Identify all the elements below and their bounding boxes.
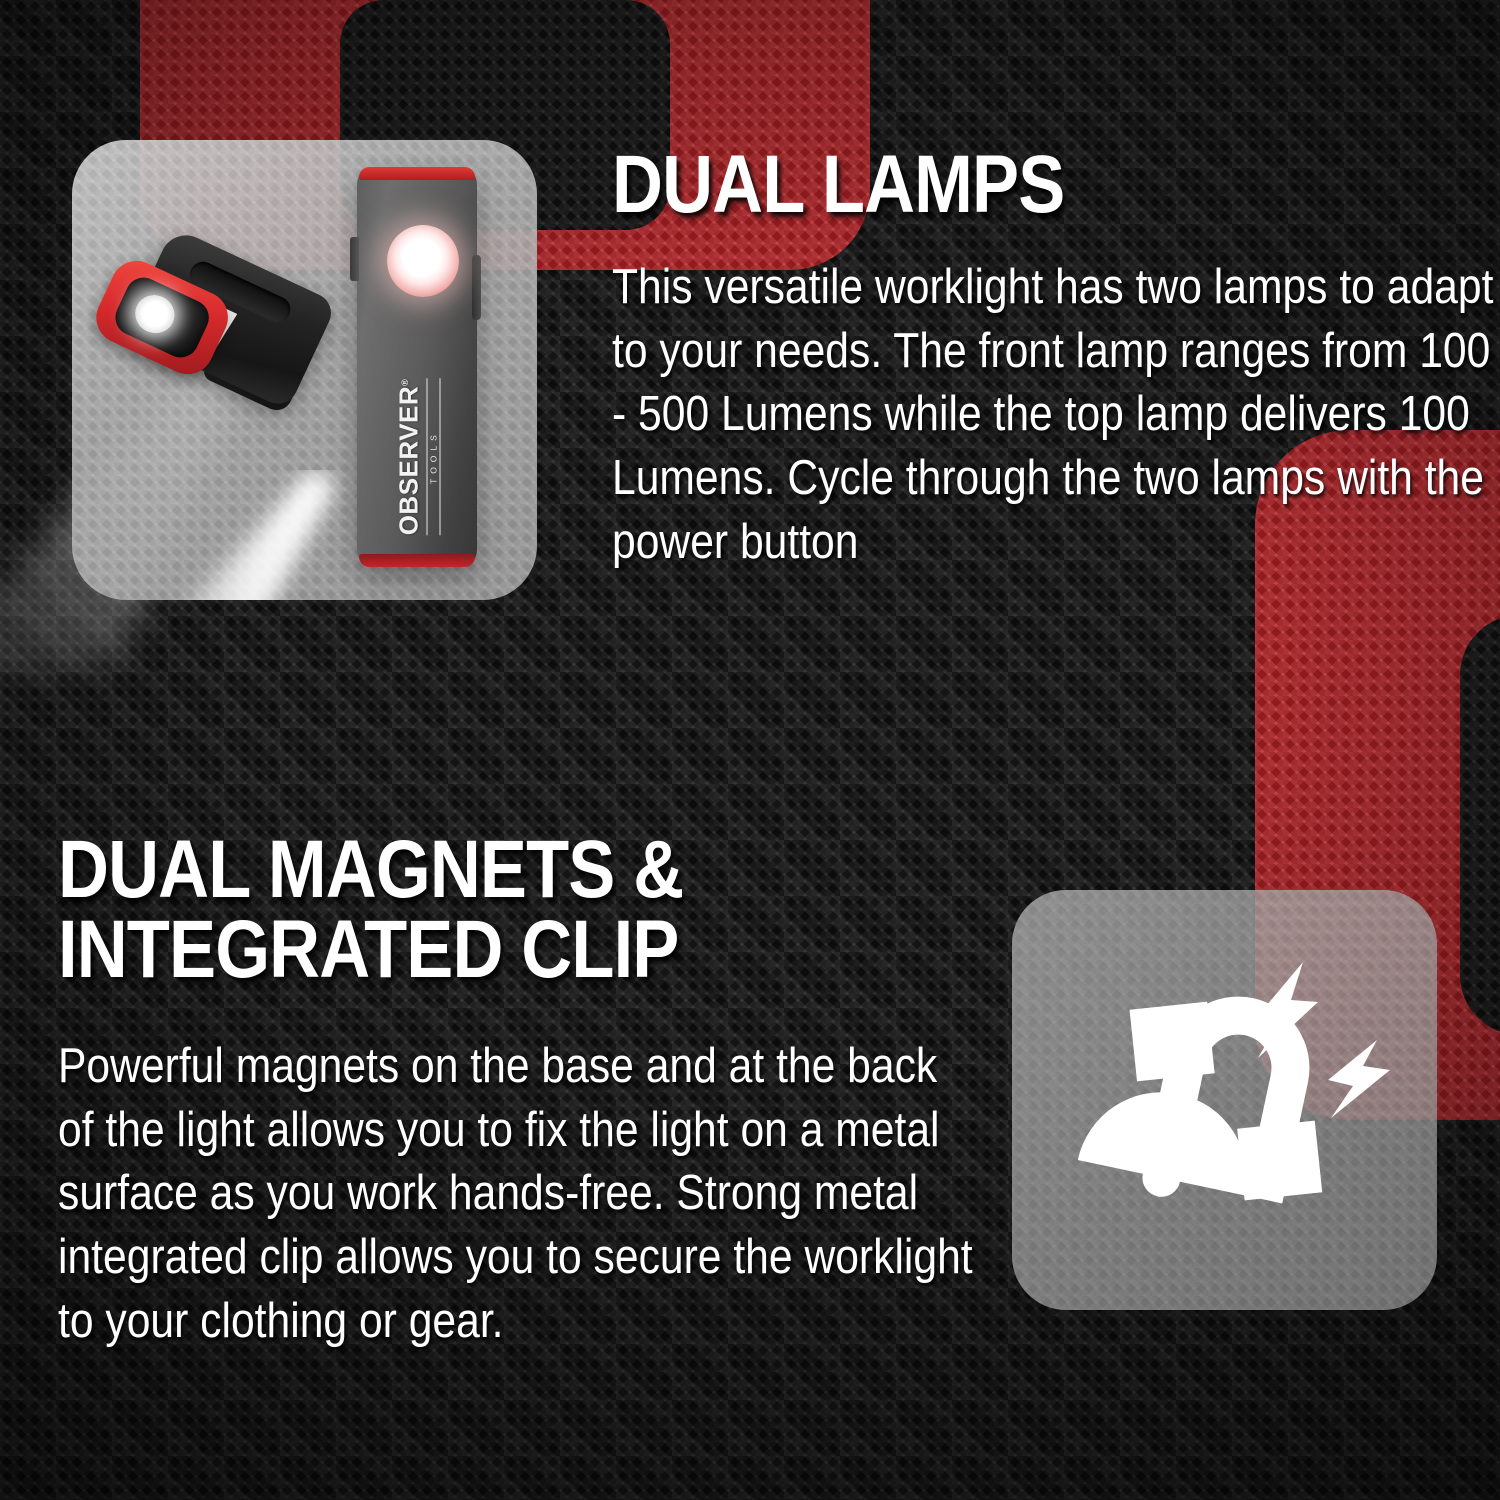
lightning-bolt-icon: [1328, 1040, 1390, 1118]
dual-lamps-heading: DUAL LAMPS: [612, 145, 1064, 225]
horseshoe-magnet-icon: [1073, 969, 1358, 1229]
magnet-icon-panel: [1012, 890, 1437, 1310]
red-end-cap-bottom: [359, 554, 475, 567]
dual-magnets-heading: DUAL MAGNETS &INTEGRATED CLIP: [58, 830, 683, 991]
integrated-clip: [350, 237, 359, 281]
dual-lamps-body: This versatile worklight has two lamps t…: [612, 256, 1499, 574]
brand-logo: OBSERVER® TOOLS: [361, 372, 473, 542]
worklight-vertical: OBSERVER® TOOLS: [357, 167, 477, 567]
magnet-graphic: [1060, 940, 1390, 1260]
brand-sub-text: TOOLS: [427, 379, 441, 536]
product-photo-panel: OBSERVER® TOOLS: [72, 140, 537, 600]
dual-magnets-body: Powerful magnets on the base and at the …: [58, 1035, 980, 1353]
brand-name-text: OBSERVER: [394, 386, 424, 535]
top-lamp-glow: [387, 225, 459, 297]
heading-line-2: INTEGRATED CLIP: [58, 904, 678, 995]
power-button: [472, 255, 481, 320]
heading-line-1: DUAL MAGNETS &: [58, 824, 683, 915]
red-end-cap-top: [359, 167, 475, 180]
infographic-canvas: OBSERVER® TOOLS DUAL LAMPS This versatil…: [0, 0, 1500, 1500]
registered-mark: ®: [400, 379, 410, 386]
